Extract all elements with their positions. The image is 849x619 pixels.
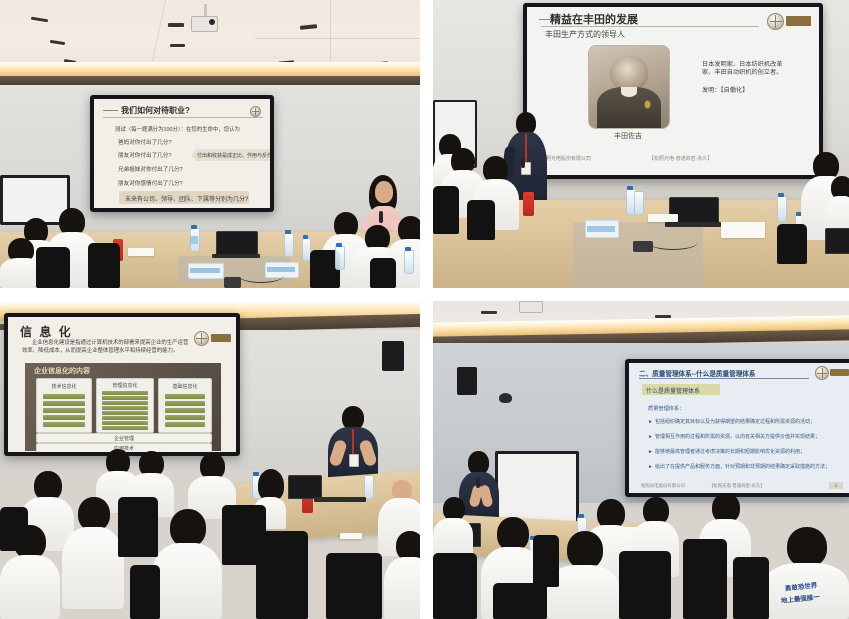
diagram-item: [102, 391, 148, 395]
bottle-cap: [303, 235, 308, 239]
paper-stack[interactable]: [128, 248, 154, 256]
slide-surface: 二、质量管理体系--什么是质量管理体系 什么是质量管理体系 质量管理体系： ► …: [629, 363, 849, 493]
chair: [88, 243, 120, 288]
informatization-diagram: 企业信息化的内容 技术信息化: [25, 363, 221, 451]
meeting-room: 二、质量管理体系--什么是质量管理体系 什么是质量管理体系 质量管理体系： ► …: [433, 301, 849, 619]
diagram-item: [165, 415, 205, 420]
chair: [683, 539, 727, 619]
slide-bullet-3: 能够使最高管理者通过考虑决策的长期和短期影响优化资源的利用；: [655, 448, 805, 455]
slide-bullet-1: 爸妈对你付出了几分?: [118, 138, 171, 146]
paper-stack[interactable]: [721, 222, 765, 238]
slide-paragraph: 企业信息化建设是指通过计算机技术的部署来提高企业的生产运营效率、降低成本，从而提…: [22, 339, 192, 355]
slide-title: 二、质量管理体系--什么是质量管理体系: [639, 368, 756, 378]
bullet-arrow-icon: ►: [648, 435, 653, 440]
slide-footer-center: 【松照光电-普通商密-永久】: [649, 155, 712, 162]
diagram-base-bar-1-label: 企业管理: [37, 435, 211, 442]
microphone-icon: [521, 158, 525, 168]
slide-body-text-2: 发明：【自働化】: [702, 85, 748, 94]
cable: [648, 235, 698, 250]
lanyard: [352, 429, 354, 455]
diagram-item: [102, 401, 148, 405]
attendee-torso: [152, 543, 222, 619]
ceiling-speaker: [457, 367, 477, 395]
attendee: [152, 509, 222, 619]
chair: [619, 551, 671, 619]
slide-callout-text: 付出和收获是成正比、作用与反作用: [197, 152, 270, 159]
slide-surface: 信 息 化 企业信息化建设是指通过计算机技术的部署来提高企业的生产运营效率、降低…: [8, 317, 236, 452]
chair: [0, 507, 28, 551]
chair: [36, 247, 70, 288]
slide-title: 精益在丰田的发展: [550, 11, 638, 27]
ceiling-grid-line: [255, 38, 420, 39]
diagram-column-1: 技术信息化: [36, 378, 92, 433]
chair: [733, 557, 769, 619]
diagram-item: [102, 411, 148, 415]
portrait-caption: 丰田佐吉: [588, 131, 668, 141]
cable: [238, 268, 284, 283]
side-whiteboard[interactable]: [495, 451, 579, 525]
id-badge: [349, 454, 359, 467]
attendee-head: [392, 480, 412, 500]
ceiling-grid-line: [330, 0, 331, 66]
chair: [256, 531, 308, 619]
slide-page-number: 1: [829, 482, 843, 489]
chair: [777, 224, 807, 264]
attendee: [62, 497, 124, 609]
portrait-head: [610, 56, 648, 90]
bullet-arrow-icon: ►: [648, 450, 653, 455]
diagram-item: [165, 394, 205, 399]
slide-bullet-3: 兄弟姐妹对你付出了几分?: [118, 165, 183, 173]
slide-bullet-4: 给出了在提供产品和服务方面，针对预期和非预期的结果确定采取措施的方法；: [655, 463, 830, 470]
diagram-column-3-head: 基础信息化: [159, 383, 211, 390]
wall-screen[interactable]: 精益在丰田的发展 丰田生产方式的领导人 丰田佐吉 日本发明家、日本纺织机: [523, 3, 823, 179]
lanyard: [525, 134, 527, 162]
ceiling-vent: [481, 311, 497, 314]
chair: [130, 565, 160, 619]
slide-bullet-1: 包括组织确定其目标以及为获得期望的结果确定过程和所需资源的活动；: [655, 418, 815, 425]
meeting-room: 精益在丰田的发展 丰田生产方式的领导人 丰田佐吉 日本发明家、日本纺织机: [433, 0, 849, 288]
slide-body-text: 日本发明家、日本纺织机改革家、丰田自动织机的创立者。: [702, 61, 790, 78]
bottle-cap: [627, 186, 633, 190]
slide-toyota-lean: 精益在丰田的发展 丰田生产方式的领导人 丰田佐吉 日本发明家、日本纺织机: [527, 7, 819, 175]
diagram-item: [43, 415, 85, 420]
company-globe-logo-icon: [767, 13, 784, 30]
attendee: [433, 497, 473, 559]
chair: [370, 258, 396, 288]
company-name-logo: [211, 334, 231, 342]
ceiling-speaker: [382, 341, 404, 371]
meeting-room: 信 息 化 企业信息化建设是指通过计算机技术的部署来提高企业的生产运营效率、降低…: [0, 301, 420, 619]
tissue-box-band: [587, 226, 615, 232]
collage-panel-bottom-left[interactable]: Male trainer presenting informatization …: [0, 301, 420, 619]
diagram-item: [43, 401, 85, 406]
slide-highlight-text: 什么是质量管理体系: [646, 386, 700, 395]
title-underline: [639, 378, 809, 379]
slide-informatization: 信 息 化 企业信息化建设是指通过计算机技术的部署来提高企业的生产运营效率、降低…: [8, 317, 236, 452]
company-globe-logo-icon: [194, 331, 209, 346]
chair: [533, 535, 559, 587]
chair: [118, 497, 158, 557]
wall-screen[interactable]: 信 息 化 企业信息化建设是指通过计算机技术的部署来提高企业的生产运营效率、降低…: [4, 313, 240, 456]
bottle-label: [190, 236, 198, 244]
title-underline: [541, 26, 759, 27]
slide-bullet-2: 管理相互作用的过程和所需的资源，以向有关相关方提供价值并实现结果；: [655, 433, 820, 440]
chair: [433, 553, 477, 619]
slide-quality-management: 二、质量管理体系--什么是质量管理体系 什么是质量管理体系 质量管理体系： ► …: [629, 363, 849, 493]
slide-career-attitude: 我们如何对待职业? 测试（每一题满分为100分）：在您的生命中，您认为 爸妈对你…: [94, 99, 270, 208]
chair: [433, 186, 459, 234]
collage-panel-bottom-right[interactable]: Male trainer with microphone presenting …: [433, 301, 849, 619]
photo-collage: Female trainer presenting career-attitud…: [0, 0, 849, 619]
tissue-box-band: [190, 268, 220, 273]
diagram-item: [102, 406, 148, 410]
attendee-head: [567, 531, 603, 569]
diagram-base-bar-1: 企业管理: [36, 433, 212, 443]
diagram-item: [43, 394, 85, 399]
ceiling-projector: [519, 301, 543, 313]
attendee-torso: [0, 555, 60, 619]
diagram-column-1-head: 技术信息化: [37, 383, 91, 390]
slide-title: 我们如何对待职业?: [121, 105, 190, 116]
slide-footer-center: 【松照光电-普通商密-永久】: [709, 483, 765, 489]
ceiling-vent: [170, 44, 185, 47]
bottle-cap: [191, 225, 197, 229]
collage-panel-top-right[interactable]: Male trainer beside screen showing Toyot…: [433, 0, 849, 288]
wall-screen[interactable]: 二、质量管理体系--什么是质量管理体系 什么是质量管理体系 质量管理体系： ► …: [625, 359, 849, 497]
title-underline: [103, 117, 263, 118]
attendee-head: [170, 509, 206, 547]
microphone-icon: [476, 477, 480, 488]
slide-subtitle: 丰田生产方式的领导人: [545, 29, 625, 40]
diagram-item: [102, 416, 148, 420]
diagram-item: [102, 426, 148, 430]
water-bottle[interactable]: [404, 250, 414, 274]
diagram-item: [102, 396, 148, 400]
diagram-column-2-head: 管理信息化: [97, 382, 153, 389]
bullet-arrow-icon: ►: [648, 420, 653, 425]
slide-surface: 精益在丰田的发展 丰田生产方式的领导人 丰田佐吉 日本发明家、日本纺织机: [527, 7, 819, 175]
slide-bullet-4: 朋友对你感情付出了几分?: [118, 179, 183, 187]
paper-stack[interactable]: [648, 214, 678, 222]
attendee-torso: [62, 527, 124, 609]
chair: [493, 583, 547, 619]
laptop-keyboard[interactable]: [212, 254, 260, 258]
slide-intro-text: 测试（每一题满分为100分）：在您的生命中，您认为: [115, 125, 240, 133]
slide-footer-left: 松照光电股份有限公司: [541, 155, 591, 162]
attendee: [384, 531, 420, 619]
company-globe-logo-icon: [815, 366, 829, 380]
ceiling-soffit: [0, 76, 420, 85]
slide-footer-left: 松照光电股份有限公司: [641, 483, 685, 489]
diagram-item: [165, 401, 205, 406]
microphone-icon: [379, 211, 383, 223]
title-dash: [103, 110, 118, 111]
collage-panel-top-left[interactable]: Female trainer presenting career-attitud…: [0, 0, 420, 288]
portrait-photo: [588, 45, 670, 129]
collage-gap-vertical: [420, 0, 433, 619]
chair: [326, 553, 382, 619]
slide-surface: 我们如何对待职业? 测试（每一题满分为100分）：在您的生命中，您认为 爸妈对你…: [94, 99, 270, 208]
ceiling-vent: [168, 23, 184, 27]
laptop[interactable]: [825, 228, 849, 254]
diagram-item: [165, 422, 205, 427]
camera-icon: [499, 393, 512, 403]
company-name-logo: [786, 16, 811, 26]
diagram-column-3: 基础信息化: [158, 378, 212, 433]
diagram-column-2: 管理信息化: [96, 378, 154, 433]
attendee: 勇敢恐世界 地上最强誰一: [763, 527, 849, 619]
diagram-item: [43, 422, 85, 427]
company-name-logo: [830, 369, 849, 376]
slide-highlight-text: 未来有公司、领导、团队、下属等分别为几分?: [125, 194, 248, 203]
bottle-cap: [285, 230, 291, 234]
collage-gap-horizontal: [0, 288, 849, 301]
water-bottle[interactable]: [634, 191, 644, 215]
slide-bullet-2: 朋友对你付出了几分?: [118, 151, 171, 159]
diagram-item: [102, 421, 148, 425]
wall-screen[interactable]: 我们如何对待职业? 测试（每一题满分为100分）：在您的生命中，您认为 爸妈对你…: [90, 95, 274, 212]
cove-light: [0, 62, 420, 76]
water-bottle[interactable]: [777, 196, 787, 222]
diagram-item: [43, 408, 85, 413]
laptop-keyboard[interactable]: [665, 222, 721, 227]
water-bottle[interactable]: [284, 233, 294, 257]
bottle-cap: [405, 247, 411, 251]
water-bottle[interactable]: [335, 246, 345, 270]
chair: [467, 200, 495, 240]
attendee-torso: [384, 557, 420, 619]
laptop[interactable]: [288, 475, 322, 499]
bottle-cap: [778, 193, 784, 197]
red-can[interactable]: [523, 192, 534, 216]
tablet-device[interactable]: [224, 277, 241, 288]
bullet-arrow-icon: ►: [648, 465, 653, 470]
attendee-head: [787, 527, 827, 567]
attendee-head: [78, 497, 110, 531]
water-bottle[interactable]: [364, 475, 374, 499]
meeting-room: 我们如何对待职业? 测试（每一题满分为100分）：在您的生命中，您认为 爸妈对你…: [0, 0, 420, 288]
diagram-title: 企业信息化的内容: [34, 366, 90, 376]
attendee-head: [497, 517, 529, 551]
paper-stack[interactable]: [340, 533, 362, 539]
company-globe-logo-icon: [250, 106, 261, 117]
slide-lead-text: 质量管理体系：: [648, 405, 684, 412]
slide-title: 信 息 化: [20, 323, 73, 340]
projector-lens-icon: [209, 19, 215, 25]
presenter-head: [375, 181, 393, 203]
portrait-collar: [621, 87, 637, 97]
diagram-item: [165, 408, 205, 413]
laptop-keyboard[interactable]: [314, 497, 366, 502]
bottle-cap: [336, 243, 342, 247]
